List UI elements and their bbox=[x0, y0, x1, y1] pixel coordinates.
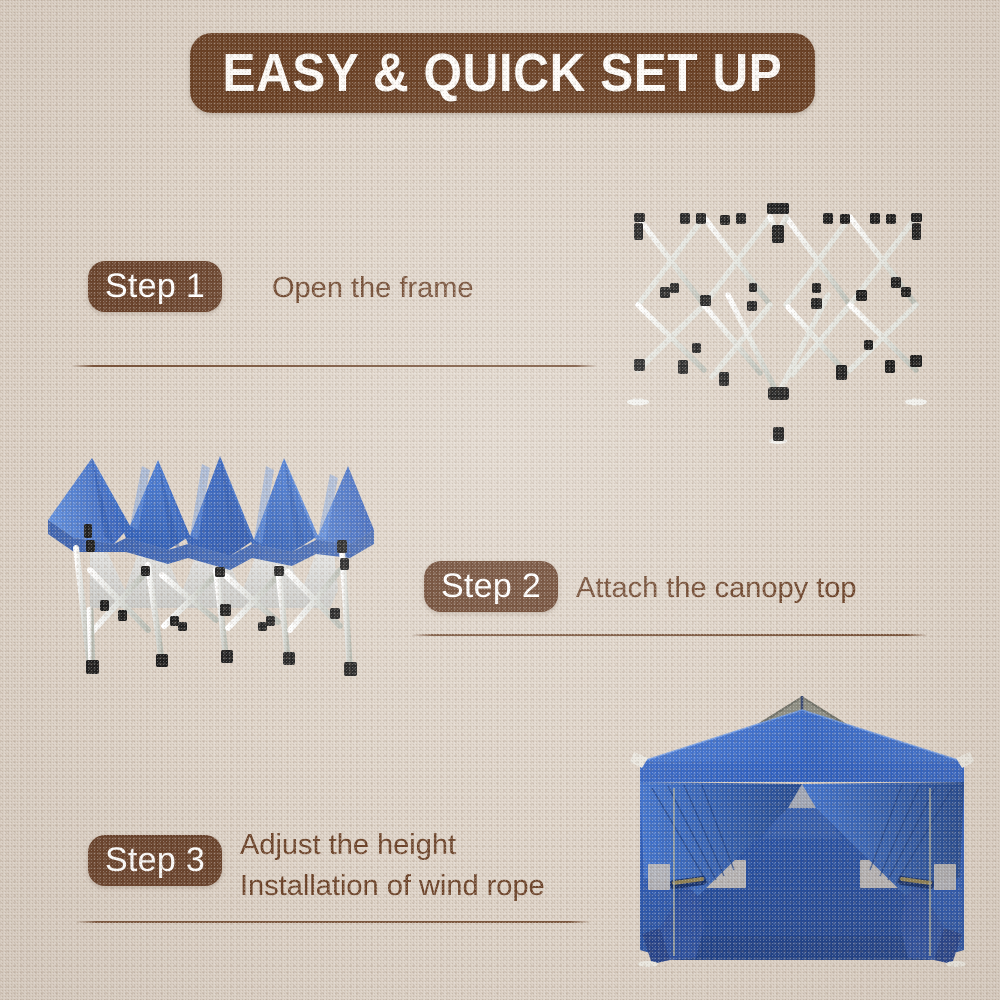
step-1-divider bbox=[72, 365, 597, 367]
step-1-badge-label: Step 1 bbox=[105, 267, 205, 306]
step-1-badge: Step 1 bbox=[88, 261, 222, 312]
step-2-illustration bbox=[30, 440, 390, 690]
step-2-badge-label: Step 2 bbox=[441, 567, 541, 606]
canopy-top-icon bbox=[30, 440, 390, 690]
step-3-line-1: Adjust the height bbox=[240, 825, 545, 866]
steel-frame-icon bbox=[608, 195, 948, 445]
title-banner: EASY & QUICK SET UP bbox=[190, 33, 815, 113]
step-2-description: Attach the canopy top bbox=[576, 568, 857, 609]
step-2-badge: Step 2 bbox=[424, 561, 558, 612]
page-title: EASY & QUICK SET UP bbox=[223, 42, 783, 104]
step-3-description: Adjust the height Installation of wind r… bbox=[240, 825, 545, 907]
step-2-divider bbox=[412, 634, 927, 636]
step-1-description: Open the frame bbox=[272, 268, 474, 309]
step-1-line-1: Open the frame bbox=[272, 268, 474, 309]
step-3-illustration bbox=[612, 688, 992, 980]
step-3-divider bbox=[76, 921, 590, 923]
step-2-line-1: Attach the canopy top bbox=[576, 568, 857, 609]
assembled-tent-icon bbox=[612, 688, 992, 980]
step-3-line-2: Installation of wind rope bbox=[240, 866, 545, 907]
step-3-badge-label: Step 3 bbox=[105, 841, 205, 880]
step-1-illustration bbox=[608, 195, 948, 445]
step-3-badge: Step 3 bbox=[88, 835, 222, 886]
infographic-page: EASY & QUICK SET UP bbox=[0, 0, 1000, 1000]
